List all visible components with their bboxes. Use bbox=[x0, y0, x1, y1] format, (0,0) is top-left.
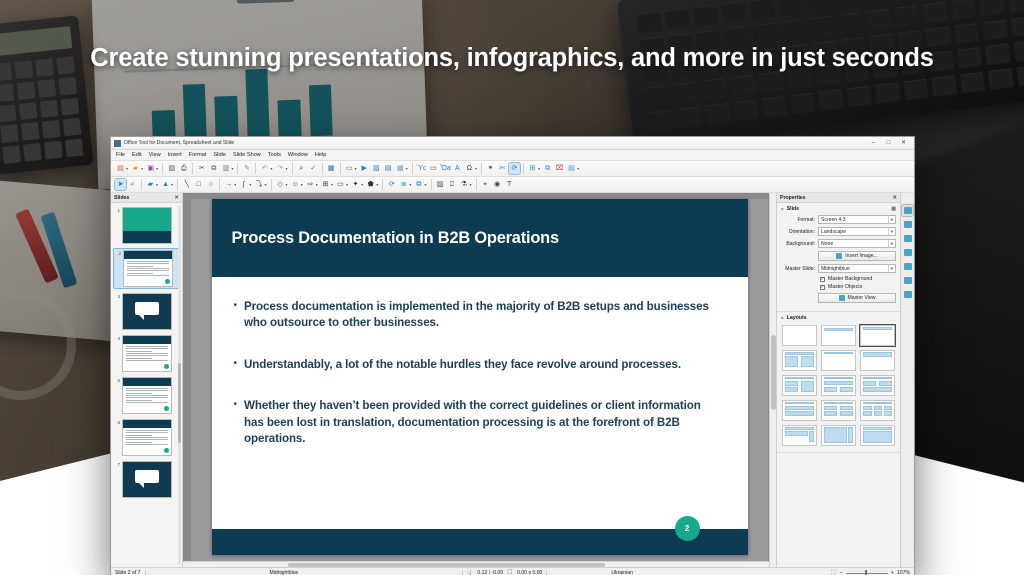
master-slide-value: Midnightblue bbox=[821, 266, 850, 272]
section-label: Slide bbox=[787, 206, 799, 212]
zoom-icon[interactable]: ⌕ bbox=[127, 179, 138, 190]
layout-option-1[interactable] bbox=[782, 325, 817, 346]
toolbar-divider bbox=[177, 179, 178, 190]
menu-insert[interactable]: Insert bbox=[168, 152, 182, 158]
rotate-icon[interactable]: ⟳ bbox=[509, 163, 520, 174]
menu-bar: FileEditViewInsertFormatSlideSlide ShowT… bbox=[111, 150, 914, 161]
slide-thumbnail-5[interactable]: 5 bbox=[114, 377, 179, 414]
menu-window[interactable]: Window bbox=[288, 152, 308, 158]
master-objects-label: Master Objects bbox=[828, 284, 862, 290]
layout-option-5[interactable] bbox=[821, 350, 856, 371]
chevron-down-icon[interactable]: ▾ bbox=[286, 166, 288, 171]
thumbnail-number: 7 bbox=[114, 461, 120, 467]
layouts-grid bbox=[781, 324, 896, 447]
spelling-icon[interactable]: ✓ bbox=[308, 163, 319, 174]
slide-bullet[interactable]: •Whether they haven’t been provided with… bbox=[234, 398, 718, 447]
glue-points-icon[interactable]: ◉ bbox=[492, 179, 503, 190]
format-select[interactable]: Screen 4:3 ▾ bbox=[818, 215, 896, 224]
layout-option-13[interactable] bbox=[782, 425, 817, 446]
slide-bullet[interactable]: •Process documentation is implemented in… bbox=[234, 299, 718, 332]
slides-scrollbar[interactable] bbox=[178, 205, 181, 565]
divider bbox=[546, 570, 547, 575]
divider bbox=[462, 570, 463, 575]
export-pdf-icon[interactable]: ▧ bbox=[166, 163, 177, 174]
standard-toolbar: ▤▾▰▾▣▾▧⎙✂⧉▥▾✎↶▾↷▾⌕✓▦▭▾▶▨▤▦▾Ὓc▭ὌaAΩ▾⚭✄⟳⊞▾… bbox=[111, 161, 914, 177]
chevron-down-icon[interactable]: ▾ bbox=[231, 166, 233, 171]
layout-option-15[interactable] bbox=[860, 425, 895, 446]
image-icon bbox=[836, 253, 842, 259]
checkbox-icon[interactable]: ✓ bbox=[820, 277, 825, 282]
status-bar: Slide 2 of 7 Midnightblue ⎷ 0.12 / -0.00… bbox=[111, 567, 914, 575]
layout-option-8[interactable] bbox=[821, 375, 856, 396]
layouts-section-title[interactable]: ^ Layouts bbox=[781, 315, 896, 321]
menu-slide[interactable]: Slide bbox=[213, 152, 225, 158]
close-icon[interactable]: ✕ bbox=[174, 195, 179, 201]
curve-icon[interactable]: ∫ bbox=[238, 179, 249, 190]
chevron-down-icon[interactable]: ▾ bbox=[301, 182, 303, 187]
master-slide-row: Master Slide: Midnightblue ▾ bbox=[781, 264, 896, 273]
sidebar-tab-strip bbox=[900, 193, 914, 567]
cursor-position-icon: ⎷ bbox=[467, 570, 473, 575]
slide-thumbnail-2[interactable]: 2 bbox=[114, 249, 179, 288]
thumbnail-preview[interactable] bbox=[122, 461, 172, 498]
chevron-down-icon[interactable]: ▾ bbox=[376, 182, 378, 187]
connector-icon[interactable]: ⤵ bbox=[253, 179, 264, 190]
callouts-icon[interactable]: ▭ bbox=[335, 179, 346, 190]
layout-option-14[interactable] bbox=[821, 425, 856, 446]
insert-chart-icon[interactable]: Ὄa bbox=[440, 163, 451, 174]
chevron-down-icon[interactable]: ▾ bbox=[171, 182, 173, 187]
master-slide-select[interactable]: Midnightblue ▾ bbox=[818, 264, 896, 273]
chevron-down-icon[interactable]: ▾ bbox=[409, 182, 411, 187]
zoom-out-button[interactable]: – bbox=[840, 570, 843, 575]
points-icon[interactable]: ⌖ bbox=[480, 179, 491, 190]
chevron-down-icon[interactable]: ▾ bbox=[577, 166, 579, 171]
master-objects-checkbox-row[interactable]: ✓ Master Objects bbox=[820, 284, 896, 290]
drawing-toolbar: ➤⌕▰▾▲▾╲□○→▾∫▾⤵▾◇▾☺▾⇨▾⊞▾▭▾✦▾⬟▾⟳≣▾⧉▾▨⍁⚗▾⌖◉… bbox=[111, 177, 914, 193]
menu-tools[interactable]: Tools bbox=[268, 152, 281, 158]
thumbnail-number: 5 bbox=[114, 377, 120, 383]
master-view-icon bbox=[839, 295, 845, 301]
redo-icon[interactable]: ↷ bbox=[275, 163, 286, 174]
3d-objects-icon[interactable]: ⬟ bbox=[365, 179, 376, 190]
format-label: Format: bbox=[781, 217, 815, 223]
chevron-down-icon[interactable]: ▾ bbox=[424, 182, 426, 187]
start-slideshow-icon[interactable]: ▶ bbox=[359, 163, 370, 174]
toolbar-divider bbox=[255, 163, 256, 174]
fit-slide-icon[interactable]: ⛶ bbox=[831, 570, 837, 575]
shadow-icon[interactable]: ▨ bbox=[435, 179, 446, 190]
divider bbox=[145, 570, 146, 575]
new-slide-icon[interactable]: ⊞ bbox=[527, 163, 538, 174]
chevron-down-icon: ▾ bbox=[888, 228, 893, 235]
chevron-down-icon[interactable]: ▾ bbox=[156, 166, 158, 171]
thumbnail-preview[interactable] bbox=[122, 335, 172, 372]
chevron-down-icon[interactable]: ▾ bbox=[126, 166, 128, 171]
select-icon[interactable]: ➤ bbox=[115, 179, 126, 190]
toolbar-divider bbox=[382, 179, 383, 190]
zoom-level-status[interactable]: 107% bbox=[897, 570, 910, 575]
block-arrows-icon[interactable]: ⇨ bbox=[305, 179, 316, 190]
chevron-down-icon: ▾ bbox=[888, 265, 893, 272]
chevron-down-icon[interactable]: ▾ bbox=[361, 182, 363, 187]
slide-canvas-wrapper: Process Documentation in B2B Operations … bbox=[191, 199, 768, 567]
table-icon[interactable]: ▦ bbox=[326, 163, 337, 174]
toolbar-divider bbox=[412, 163, 413, 174]
animation-icon[interactable] bbox=[902, 233, 913, 244]
layout-option-7[interactable] bbox=[782, 375, 817, 396]
thumbnail-preview[interactable] bbox=[123, 250, 173, 287]
slides-panel: Slides ✕ 1234567 bbox=[111, 193, 183, 567]
insert-text-box-icon[interactable]: T bbox=[504, 179, 515, 190]
menu-format[interactable]: Format bbox=[189, 152, 207, 158]
basic-shapes-icon[interactable]: ◇ bbox=[275, 179, 286, 190]
minimize-button[interactable]: – bbox=[870, 140, 877, 146]
window-controls: – □ ✕ bbox=[870, 140, 911, 146]
duplicate-slide-icon[interactable]: ⧉ bbox=[542, 163, 553, 174]
layout-option-3[interactable] bbox=[860, 325, 895, 346]
slide-title-bar: Process Documentation in B2B Operations bbox=[212, 199, 748, 277]
toolbar-divider bbox=[141, 179, 142, 190]
menu-edit[interactable]: Edit bbox=[132, 152, 142, 158]
slide-pane-icon[interactable]: ▤ bbox=[383, 163, 394, 174]
format-value: Screen 4:3 bbox=[821, 217, 846, 223]
thumbnail-preview[interactable] bbox=[122, 419, 172, 456]
save-icon[interactable]: ▣ bbox=[145, 163, 156, 174]
menu-file[interactable]: File bbox=[116, 152, 125, 158]
slide-bullet[interactable]: •Understandably, a lot of the notable hu… bbox=[234, 357, 718, 373]
chevron-down-icon[interactable]: ▾ bbox=[249, 182, 251, 187]
insert-textbox-icon[interactable]: ▭ bbox=[428, 163, 439, 174]
toolbar-divider bbox=[523, 163, 524, 174]
chevron-down-icon[interactable]: ▾ bbox=[475, 166, 477, 171]
insert-image-icon[interactable]: Ὓc bbox=[416, 163, 427, 174]
chevron-down-icon[interactable]: ▾ bbox=[270, 166, 272, 171]
line-color-icon[interactable]: ▲ bbox=[160, 179, 171, 190]
properties-icon[interactable] bbox=[902, 205, 913, 216]
slide-thumbnail-7[interactable]: 7 bbox=[114, 461, 179, 498]
toolbar-divider bbox=[271, 179, 272, 190]
bullet-icon: • bbox=[234, 357, 238, 373]
properties-sidebar: Properties ✕ ^ Slide ▦ Format: Screen 4:… bbox=[776, 193, 900, 567]
thumbnail-number: 4 bbox=[114, 335, 120, 341]
toolbar-divider bbox=[431, 179, 432, 190]
selection-size-icon: ☐ bbox=[507, 570, 513, 575]
chevron-up-icon: ^ bbox=[781, 207, 784, 212]
filter-icon[interactable]: ⚗ bbox=[459, 179, 470, 190]
clone-formatting-icon[interactable]: ✎ bbox=[241, 163, 252, 174]
slide-body[interactable]: •Process documentation is implemented in… bbox=[212, 277, 748, 448]
background-row: Background: None ▾ bbox=[781, 239, 896, 248]
fill-color-icon[interactable]: ▰ bbox=[145, 179, 156, 190]
orientation-label: Orientation: bbox=[781, 229, 815, 235]
cut-icon[interactable]: ✂ bbox=[196, 163, 207, 174]
bullet-icon: • bbox=[234, 398, 238, 447]
slides-panel-header: Slides ✕ bbox=[111, 193, 182, 203]
delete-slide-icon[interactable]: ⌧ bbox=[554, 163, 565, 174]
slides-list[interactable]: 1234567 bbox=[111, 203, 182, 567]
menu-view[interactable]: View bbox=[149, 152, 161, 158]
title-bar: Office Tool for Document, Spreadsheet an… bbox=[111, 137, 914, 150]
layout-option-10[interactable] bbox=[782, 400, 817, 421]
thumbnail-preview[interactable] bbox=[122, 377, 172, 414]
slide-title[interactable]: Process Documentation in B2B Operations bbox=[232, 229, 559, 248]
thumbnail-preview[interactable] bbox=[122, 293, 172, 330]
insert-image-label: Insert Image... bbox=[845, 253, 878, 259]
background-select[interactable]: None ▾ bbox=[818, 239, 896, 248]
orientation-row: Orientation: Landscape ▾ bbox=[781, 227, 896, 236]
layout-option-9[interactable] bbox=[860, 375, 895, 396]
layout-option-4[interactable] bbox=[782, 350, 817, 371]
master-slide-icon[interactable]: ▨ bbox=[371, 163, 382, 174]
slide-count-status: Slide 2 of 7 bbox=[115, 570, 141, 575]
toolbar-divider bbox=[219, 179, 220, 190]
master-slides-icon[interactable] bbox=[902, 247, 913, 258]
master-view-button[interactable]: Master View bbox=[818, 293, 896, 303]
bullet-text: Process documentation is implemented in … bbox=[244, 299, 717, 332]
grid-icon[interactable]: ▦ bbox=[395, 163, 406, 174]
thumbnail-preview[interactable] bbox=[122, 207, 172, 244]
slide-properties-icon[interactable]: ▤ bbox=[566, 163, 577, 174]
thumbnail-number: 3 bbox=[114, 293, 120, 299]
toolbar-divider bbox=[292, 163, 293, 174]
toolbar-divider bbox=[481, 163, 482, 174]
slide-number-badge: 2 bbox=[675, 516, 700, 541]
selection-size-status: 0.00 x 0.00 bbox=[517, 570, 542, 575]
thumbnail-number: 6 bbox=[114, 419, 120, 425]
slide-thumbnail-3[interactable]: 3 bbox=[114, 293, 179, 330]
toolbar-divider bbox=[162, 163, 163, 174]
layout-option-11[interactable] bbox=[821, 400, 856, 421]
print-icon[interactable]: ⎙ bbox=[178, 163, 189, 174]
slide-footer-bar bbox=[212, 529, 748, 555]
layouts-label: Layouts bbox=[787, 315, 807, 321]
window-title: Office Tool for Document, Spreadsheet an… bbox=[124, 140, 234, 146]
app-icon bbox=[114, 140, 121, 147]
chevron-down-icon[interactable]: ▾ bbox=[406, 166, 408, 171]
chevron-down-icon[interactable]: ▾ bbox=[470, 182, 472, 187]
bullet-text: Understandably, a lot of the notable hur… bbox=[244, 357, 681, 373]
sidebar-header: Properties ✕ bbox=[777, 193, 900, 203]
master-status: Midnightblue bbox=[270, 570, 299, 575]
align-icon[interactable]: ≣ bbox=[398, 179, 409, 190]
master-background-checkbox-row[interactable]: ✓ Master Background bbox=[820, 276, 896, 282]
flowchart-icon[interactable]: ⊞ bbox=[320, 179, 331, 190]
thumbnail-number: 2 bbox=[115, 250, 121, 256]
rectangle-icon[interactable]: □ bbox=[193, 179, 204, 190]
chevron-down-icon[interactable]: ▾ bbox=[141, 166, 143, 171]
more-options-icon[interactable]: ▦ bbox=[891, 206, 896, 212]
background-value: None bbox=[821, 241, 833, 247]
application-window: Office Tool for Document, Spreadsheet an… bbox=[110, 136, 915, 575]
orientation-value: Landscape bbox=[821, 229, 846, 235]
bullet-text: Whether they haven’t been provided with … bbox=[244, 398, 717, 447]
toolbar-divider bbox=[192, 163, 193, 174]
styles-icon[interactable] bbox=[902, 261, 913, 272]
chevron-down-icon[interactable]: ▾ bbox=[538, 166, 540, 171]
chevron-down-icon[interactable]: ▾ bbox=[234, 182, 236, 187]
chevron-down-icon: ▾ bbox=[888, 216, 893, 223]
insert-image-button[interactable]: Insert Image... bbox=[818, 251, 896, 261]
zoom-controls: ⛶ – + 107% bbox=[831, 570, 910, 575]
headline: Create stunning presentations, infograph… bbox=[0, 44, 1024, 73]
master-background-label: Master Background bbox=[828, 276, 872, 282]
slide-section-title[interactable]: ^ Slide ▦ bbox=[781, 206, 896, 212]
find-replace-icon[interactable]: ⌕ bbox=[296, 163, 307, 174]
chevron-down-icon[interactable]: ▾ bbox=[346, 182, 348, 187]
chevron-down-icon[interactable]: ▾ bbox=[156, 182, 158, 187]
toolbar-divider bbox=[237, 163, 238, 174]
language-status[interactable]: Ukrainian bbox=[611, 570, 633, 575]
special-character-icon[interactable]: Ω bbox=[464, 163, 475, 174]
application-body: Slides ✕ 1234567 Process Documentation i… bbox=[111, 193, 914, 567]
layout-option-12[interactable] bbox=[860, 400, 895, 421]
ellipse-icon[interactable]: ○ bbox=[205, 179, 216, 190]
slides-panel-title: Slides bbox=[114, 195, 129, 201]
gallery-icon[interactable] bbox=[902, 275, 913, 286]
chevron-down-icon[interactable]: ▾ bbox=[316, 182, 318, 187]
toolbar-divider bbox=[340, 163, 341, 174]
chevron-up-icon: ^ bbox=[781, 316, 784, 321]
chevron-down-icon[interactable]: ▾ bbox=[355, 166, 357, 171]
layout-option-6[interactable] bbox=[860, 350, 895, 371]
bullet-icon: • bbox=[234, 299, 238, 332]
layouts-section: ^ Layouts bbox=[777, 312, 900, 453]
new-icon[interactable]: ▤ bbox=[115, 163, 126, 174]
editor-horizontal-scrollbar[interactable] bbox=[183, 561, 769, 567]
slide-editing-area[interactable]: Process Documentation in B2B Operations … bbox=[183, 193, 776, 567]
menu-slide-show[interactable]: Slide Show bbox=[233, 152, 261, 158]
insert-line-icon[interactable]: ╲ bbox=[181, 179, 192, 190]
menu-help[interactable]: Help bbox=[315, 152, 327, 158]
chevron-down-icon[interactable]: ▾ bbox=[264, 182, 266, 187]
crop-icon[interactable]: ⍁ bbox=[447, 179, 458, 190]
navigator-icon[interactable] bbox=[902, 289, 913, 300]
undo-icon[interactable]: ↶ bbox=[259, 163, 270, 174]
slide-thumbnail-6[interactable]: 6 bbox=[114, 419, 179, 456]
slide-properties-section: ^ Slide ▦ Format: Screen 4:3 ▾ Orientati… bbox=[777, 203, 900, 312]
background-label: Background: bbox=[781, 241, 815, 247]
arrange-icon[interactable]: ⧉ bbox=[413, 179, 424, 190]
slide-thumbnail-1[interactable]: 1 bbox=[114, 207, 179, 244]
transition-icon[interactable] bbox=[902, 219, 913, 230]
layout-option-2[interactable] bbox=[821, 325, 856, 346]
toolbar-divider bbox=[322, 163, 323, 174]
slide-thumbnail-4[interactable]: 4 bbox=[114, 335, 179, 372]
cursor-position-status: 0.12 / -0.00 bbox=[477, 570, 503, 575]
open-icon[interactable]: ▰ bbox=[130, 163, 141, 174]
close-button[interactable]: ✕ bbox=[900, 140, 907, 146]
insert-hyperlink-icon[interactable]: ⚭ bbox=[485, 163, 496, 174]
current-slide[interactable]: Process Documentation in B2B Operations … bbox=[212, 199, 748, 555]
zoom-in-button[interactable]: + bbox=[891, 570, 894, 575]
fontwork-icon[interactable]: A bbox=[452, 163, 463, 174]
rotate-object-icon[interactable]: ⟳ bbox=[386, 179, 397, 190]
format-row: Format: Screen 4:3 ▾ bbox=[781, 215, 896, 224]
chevron-down-icon[interactable]: ▾ bbox=[331, 182, 333, 187]
chevron-down-icon[interactable]: ▾ bbox=[286, 182, 288, 187]
arrow-icon[interactable]: → bbox=[223, 179, 234, 190]
master-view-label: Master View bbox=[848, 295, 876, 301]
display-views-icon[interactable]: ▭ bbox=[344, 163, 355, 174]
chevron-down-icon: ▾ bbox=[888, 240, 893, 247]
checkbox-icon[interactable]: ✓ bbox=[820, 285, 825, 290]
copy-icon[interactable]: ⧉ bbox=[208, 163, 219, 174]
master-slide-label: Master Slide: bbox=[781, 266, 815, 272]
zoom-slider[interactable] bbox=[846, 571, 888, 575]
orientation-select[interactable]: Landscape ▾ bbox=[818, 227, 896, 236]
editor-vertical-scrollbar[interactable] bbox=[769, 193, 776, 567]
paste-icon[interactable]: ▥ bbox=[220, 163, 231, 174]
stars-icon[interactable]: ✦ bbox=[350, 179, 361, 190]
sidebar-title: Properties bbox=[780, 195, 806, 201]
maximize-button[interactable]: □ bbox=[885, 140, 892, 146]
show-draw-functions-icon[interactable]: ✄ bbox=[497, 163, 508, 174]
toolbar-divider bbox=[476, 179, 477, 190]
close-icon[interactable]: ✕ bbox=[892, 195, 897, 201]
thumbnail-number: 1 bbox=[114, 207, 120, 213]
symbol-shapes-icon[interactable]: ☺ bbox=[290, 179, 301, 190]
